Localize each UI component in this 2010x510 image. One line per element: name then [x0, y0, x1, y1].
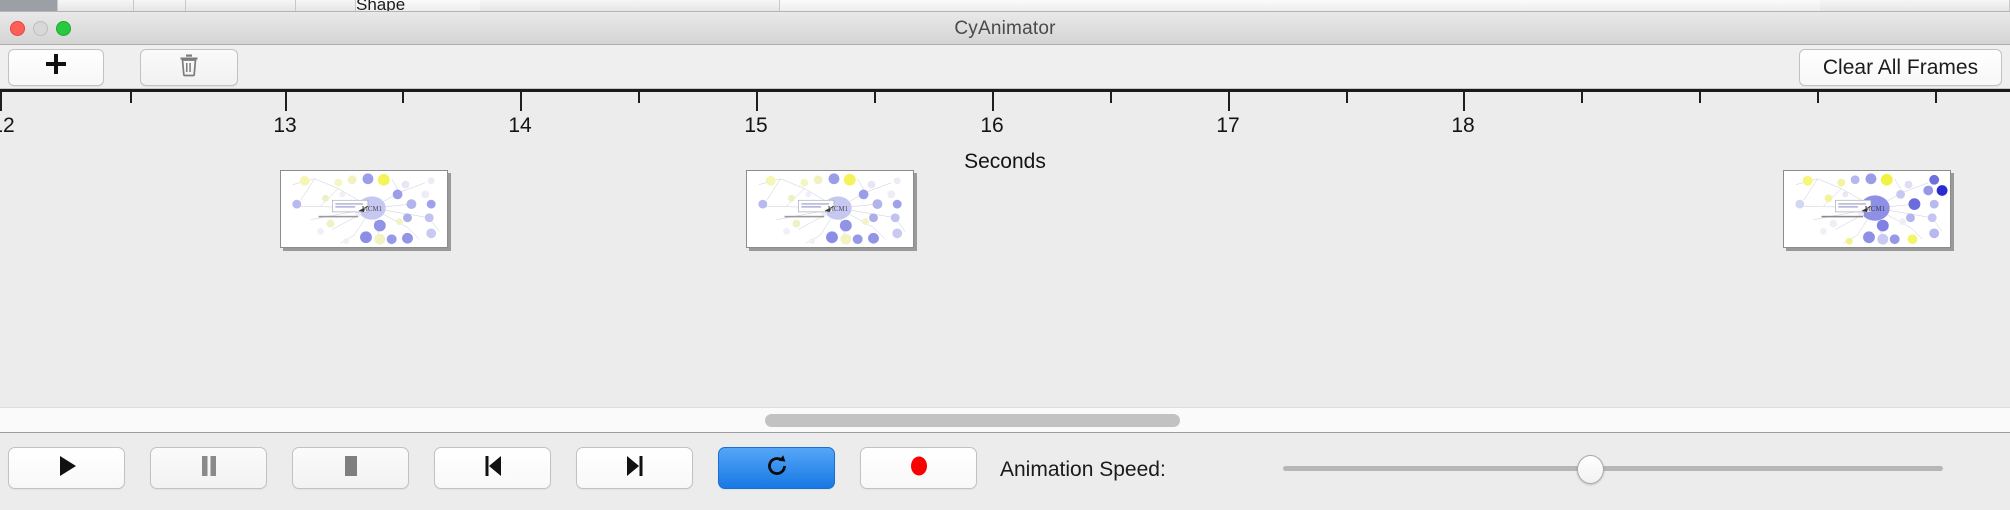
bg-chip — [58, 0, 134, 12]
timeline-frame-thumbnail[interactable]: MCM1 — [1783, 170, 1951, 248]
stop-icon — [341, 454, 361, 483]
ruler-label: 17 — [1216, 114, 1239, 138]
ruler-tick-minor — [1699, 92, 1701, 103]
ruler-label: 15 — [744, 114, 767, 138]
timeline-frame-thumbnail[interactable]: MCM1 — [746, 170, 914, 248]
stop-button[interactable] — [292, 447, 409, 489]
ruler-tick-minor — [874, 92, 876, 103]
slider-thumb[interactable] — [1577, 455, 1604, 484]
slider-track — [1283, 466, 1943, 471]
pause-button[interactable] — [150, 447, 267, 489]
ruler-tick-minor — [1110, 92, 1112, 103]
bg-chip — [1820, 0, 2010, 12]
bg-chip — [480, 0, 780, 12]
svg-text:MCM1: MCM1 — [828, 206, 849, 213]
bg-chip — [0, 0, 58, 12]
ruler-tick-major — [992, 92, 994, 111]
network-graph-icon: MCM1 — [1784, 171, 1950, 247]
plus-icon — [45, 51, 67, 81]
ruler-tick-minor — [1581, 92, 1583, 103]
background-window-strip: Shape — [0, 0, 2010, 12]
bg-chip — [296, 0, 356, 12]
ruler-tick-minor — [1346, 92, 1348, 103]
trash-icon — [178, 53, 200, 83]
ruler-tick-major — [285, 92, 287, 111]
pause-icon — [199, 454, 219, 483]
ruler-tick-minor — [1935, 92, 1937, 103]
window-title: CyAnimator — [0, 18, 2010, 40]
add-frame-button[interactable] — [8, 49, 104, 86]
background-window-label: Shape — [356, 0, 405, 12]
next-frame-button[interactable] — [576, 447, 693, 489]
ruler-label: 18 — [1451, 114, 1474, 138]
window-title-bar: CyAnimator — [0, 12, 2010, 45]
record-icon — [908, 454, 930, 483]
ruler-tick-major — [520, 92, 522, 111]
ruler-label: 14 — [508, 114, 531, 138]
ruler-tick-major — [1463, 92, 1465, 111]
frame-toolbar: Clear All Frames — [0, 45, 2010, 89]
ruler-label: 12 — [0, 114, 15, 138]
timeline-axis-title: Seconds — [0, 150, 2010, 174]
clear-all-frames-label: Clear All Frames — [1823, 56, 1978, 80]
ruler-label: 16 — [980, 114, 1003, 138]
network-graph-icon: MCM1 — [747, 171, 913, 247]
network-graph-icon: MCM1 — [281, 171, 447, 247]
animation-speed-slider[interactable] — [1283, 447, 1943, 489]
scrollbar-thumb[interactable] — [765, 414, 1180, 427]
ruler-tick-minor — [1817, 92, 1819, 103]
skip-next-icon — [624, 454, 646, 483]
timeline-frame-thumbnail[interactable]: MCM1 — [280, 170, 448, 248]
play-button[interactable] — [8, 447, 125, 489]
ruler-tick-major — [1228, 92, 1230, 111]
clear-all-frames-button[interactable]: Clear All Frames — [1799, 49, 2002, 86]
ruler-label: 13 — [273, 114, 296, 138]
bg-chip — [186, 0, 296, 12]
delete-frame-button[interactable] — [140, 49, 238, 86]
loop-icon — [764, 453, 790, 484]
ruler-tick-minor — [402, 92, 404, 103]
play-icon — [56, 454, 78, 483]
timeline-horizontal-scrollbar[interactable] — [0, 407, 2010, 433]
loop-button[interactable] — [718, 447, 835, 489]
previous-frame-button[interactable] — [434, 447, 551, 489]
ruler-tick-major — [756, 92, 758, 111]
ruler-tick-minor — [638, 92, 640, 103]
timeline-ruler[interactable]: 12 13 14 15 16 17 18 Seconds — [0, 89, 2010, 153]
svg-text:MCM1: MCM1 — [1865, 206, 1886, 213]
skip-previous-icon — [482, 454, 504, 483]
record-button[interactable] — [860, 447, 977, 489]
svg-text:MCM1: MCM1 — [362, 206, 383, 213]
bg-chip — [134, 0, 186, 12]
transport-control-bar: Animation Speed: — [0, 434, 2010, 510]
animation-speed-label: Animation Speed: — [1000, 458, 1166, 482]
ruler-tick-major — [0, 92, 2, 111]
timeline-panel[interactable]: MCM1 — [0, 89, 2010, 407]
ruler-tick-minor — [130, 92, 132, 103]
